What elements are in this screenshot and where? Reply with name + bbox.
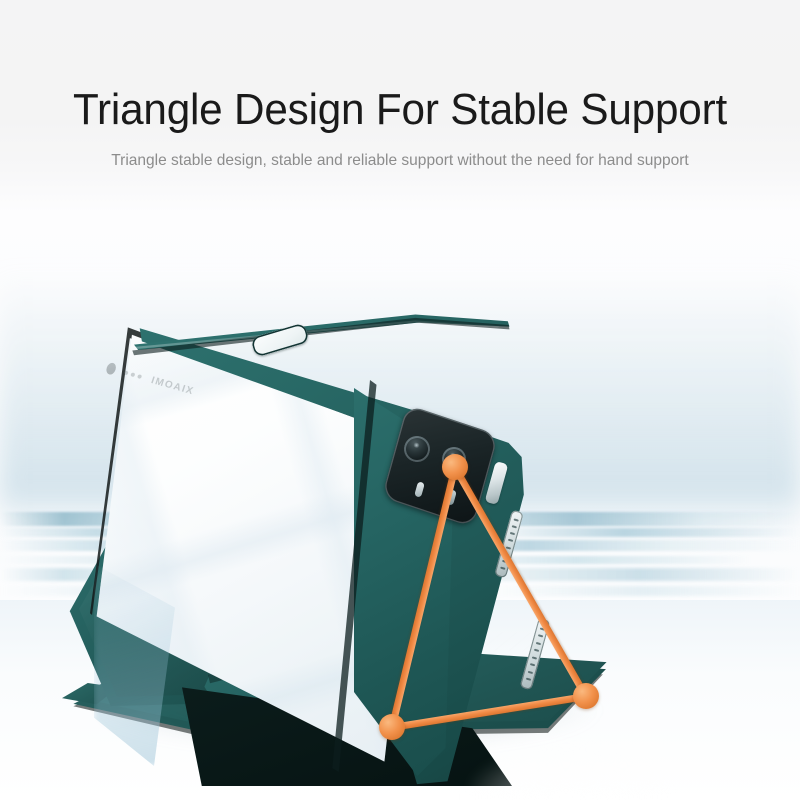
product-stage: XIAOMI xyxy=(0,212,800,800)
stylus-notch xyxy=(250,322,309,357)
page-subtitle: Triangle stable design, stable and relia… xyxy=(12,150,788,172)
rim-light xyxy=(470,732,710,800)
page-title: Triangle Design For Stable Support xyxy=(16,84,784,136)
front-camera-icon xyxy=(105,362,117,376)
tablet-case-product: XIAOMI xyxy=(0,212,800,800)
header-band: Triangle Design For Stable Support Trian… xyxy=(0,0,800,212)
product-banner: Triangle Design For Stable Support Trian… xyxy=(0,0,800,800)
watermark-dots-icon xyxy=(124,370,143,379)
tablet-device: XIAOMI xyxy=(86,296,526,800)
